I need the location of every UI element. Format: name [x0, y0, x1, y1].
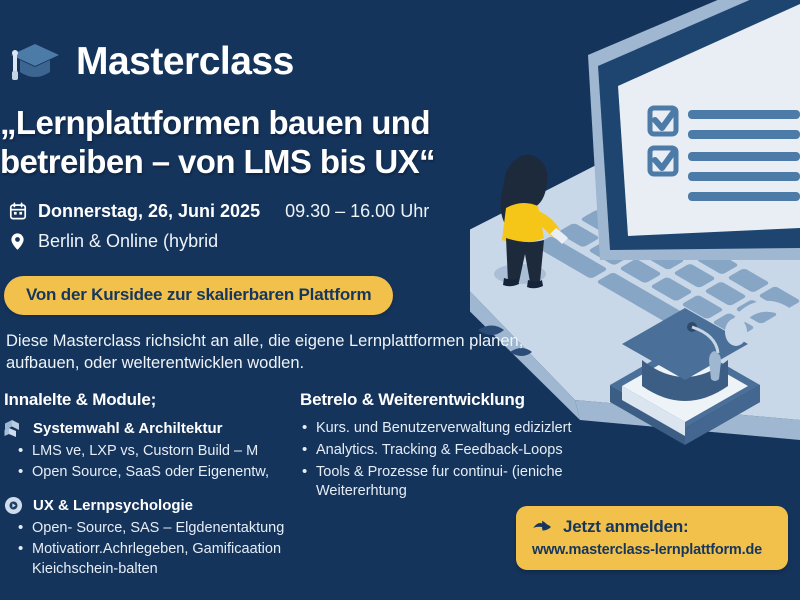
laptop-keyboard-shape — [534, 196, 800, 351]
event-location: Berlin & Online (hybrid — [38, 231, 218, 252]
headline: „Lernplattformen bauen und betreiben – v… — [0, 104, 520, 182]
location-pin-icon — [8, 230, 27, 252]
event-meta: Donnerstag, 26, Juni 2025 09.30 – 16.00 … — [8, 196, 528, 256]
list-item: Open- Source, SAS – Elgdenentaktung — [4, 519, 300, 538]
column-left: Innalelte & Module; Systemwahl & Archilt… — [4, 390, 300, 593]
column-left-heading: Innalelte & Module; — [4, 390, 300, 410]
cta-register-box[interactable]: Jetzt anmelden: www.masterclass-lernplat… — [516, 506, 788, 570]
page-title: Masterclass — [76, 42, 294, 81]
cubes-icon — [4, 419, 24, 438]
meta-row-location: Berlin & Online (hybrid — [8, 226, 528, 256]
subsection-systemwahl: Systemwahl & Archiltektur — [4, 419, 300, 438]
meta-row-date: Donnerstag, 26, Juni 2025 09.30 – 16.00 … — [8, 196, 528, 226]
screen-checklist-shape — [650, 108, 800, 201]
content-columns: Innalelte & Module; Systemwahl & Archilt… — [4, 390, 596, 593]
graduation-cap-icon — [8, 38, 62, 84]
list-item: LMS ve, LXP vs, Custorn Build – M — [4, 442, 300, 461]
subsection-systemwahl-label: Systemwahl & Archiltektur — [33, 420, 223, 437]
event-time: 09.30 – 16.00 Uhr — [285, 201, 429, 222]
subsection-ux-label: UX & Lernpsychologie — [33, 497, 193, 514]
column-right-heading: Betrelo & Weiterentwicklung — [300, 390, 596, 410]
list-item: Motivatiorr.Achrlegeben, Gamificaation K… — [4, 540, 300, 578]
tagline-badge: Von der Kursidee zur skalierbaren Plattf… — [4, 276, 393, 315]
pointing-hand-icon — [532, 519, 554, 535]
calendar-icon — [8, 200, 27, 222]
bullet-list-systemwahl: LMS ve, LXP vs, Custorn Build – M Open S… — [4, 442, 300, 482]
headphones-shape — [725, 306, 800, 346]
list-item: Tools & Prozesse fur continui- (ieniche … — [300, 463, 596, 501]
circle-play-icon — [4, 496, 24, 515]
masthead: Masterclass — [8, 38, 294, 84]
event-date: Donnerstag, 26, Juni 2025 — [38, 201, 260, 222]
list-item: Open Source, SaaS oder Eigenentw, — [4, 463, 300, 482]
cta-header: Jetzt anmelden: — [532, 517, 772, 537]
graduation-cap-on-book-shape — [610, 308, 760, 445]
subsection-ux: UX & Lernpsychologie — [4, 496, 300, 515]
bullet-list-ux: Open- Source, SAS – Elgdenentaktung Moti… — [4, 519, 300, 578]
cta-url[interactable]: www.masterclass-lernplattform.de — [532, 542, 772, 558]
cta-title: Jetzt anmelden: — [563, 517, 688, 537]
list-item: Kurs. und Benutzerverwaltung edizizlert — [300, 419, 596, 438]
bullet-list-betrieb: Kurs. und Benutzerverwaltung edizizlert … — [300, 419, 596, 502]
lead-paragraph: Diese Masterclass richsicht an alle, die… — [6, 330, 526, 374]
laptop-screen-shape — [588, 0, 800, 260]
list-item: Analytics. Tracking & Feedback-Loops — [300, 441, 596, 460]
